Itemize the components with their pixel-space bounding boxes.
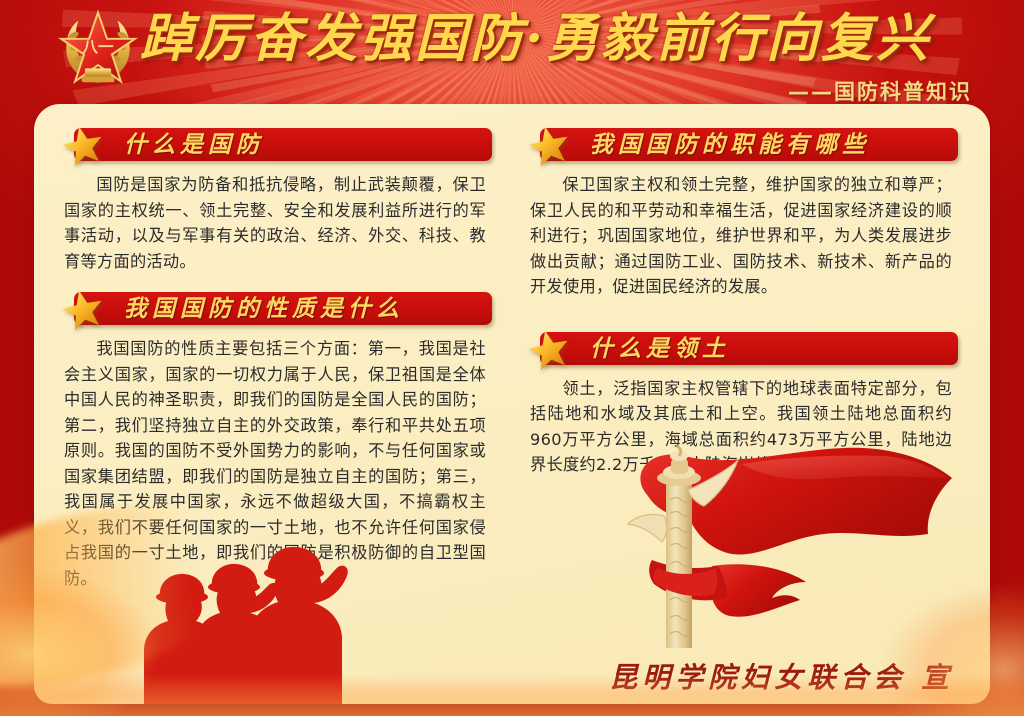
section-header-functions-of-national-defense: 我国国防的职能有哪些 bbox=[522, 126, 958, 164]
organization-signature: 昆明学院妇女联合会 宣 bbox=[609, 656, 954, 696]
gold-star-icon bbox=[62, 124, 104, 166]
saluting-soldiers-illustration bbox=[114, 539, 374, 704]
svg-text:八一: 八一 bbox=[81, 38, 114, 56]
poster-root: 八一 踔厉奋发强国防·勇毅前行向复兴 ——国防科普知识 bbox=[0, 0, 1024, 716]
section-body: 国防是国家为防备和抵抗侵略，制止武装颠覆，保卫国家的主权统一、领土完整、安全和发… bbox=[64, 172, 486, 274]
pla-emblem-icon: 八一 bbox=[57, 6, 139, 88]
section-body: 保卫国家主权和领土完整，维护国家的独立和尊严；保卫人民的和平劳动和幸福生活，促进… bbox=[530, 172, 952, 300]
section-title: 什么是国防 bbox=[124, 130, 264, 159]
right-column: 我国国防的职能有哪些 保卫国家主权和领土完整，维护国家的独立和尊严；保卫人民的和… bbox=[522, 126, 958, 494]
section-header-nature-of-national-defense: 我国国防的性质是什么 bbox=[56, 290, 492, 328]
gold-star-icon bbox=[62, 288, 104, 330]
huabiao-and-red-flag-illustration bbox=[592, 442, 972, 652]
section-title: 我国国防的职能有哪些 bbox=[590, 130, 870, 159]
left-column: 什么是国防 国防是国家为防备和抵抗侵略，制止武装颠覆，保卫国家的主权统一、领土完… bbox=[56, 126, 492, 607]
content-panel: 什么是国防 国防是国家为防备和抵抗侵略，制止武装颠覆，保卫国家的主权统一、领土完… bbox=[34, 104, 990, 704]
gold-star-icon bbox=[528, 328, 570, 370]
gold-star-icon bbox=[528, 124, 570, 166]
section-title: 什么是领土 bbox=[590, 334, 730, 363]
page-subtitle: ——国防科普知识 bbox=[788, 76, 972, 106]
title-banner: 八一 踔厉奋发强国防·勇毅前行向复兴 ——国防科普知识 bbox=[0, 0, 1024, 112]
section-header-what-is-territory: 什么是领土 bbox=[522, 330, 958, 368]
section-title: 我国国防的性质是什么 bbox=[124, 294, 404, 323]
section-header-what-is-national-defense: 什么是国防 bbox=[56, 126, 492, 164]
page-title: 踔厉奋发强国防·勇毅前行向复兴 bbox=[140, 8, 980, 70]
